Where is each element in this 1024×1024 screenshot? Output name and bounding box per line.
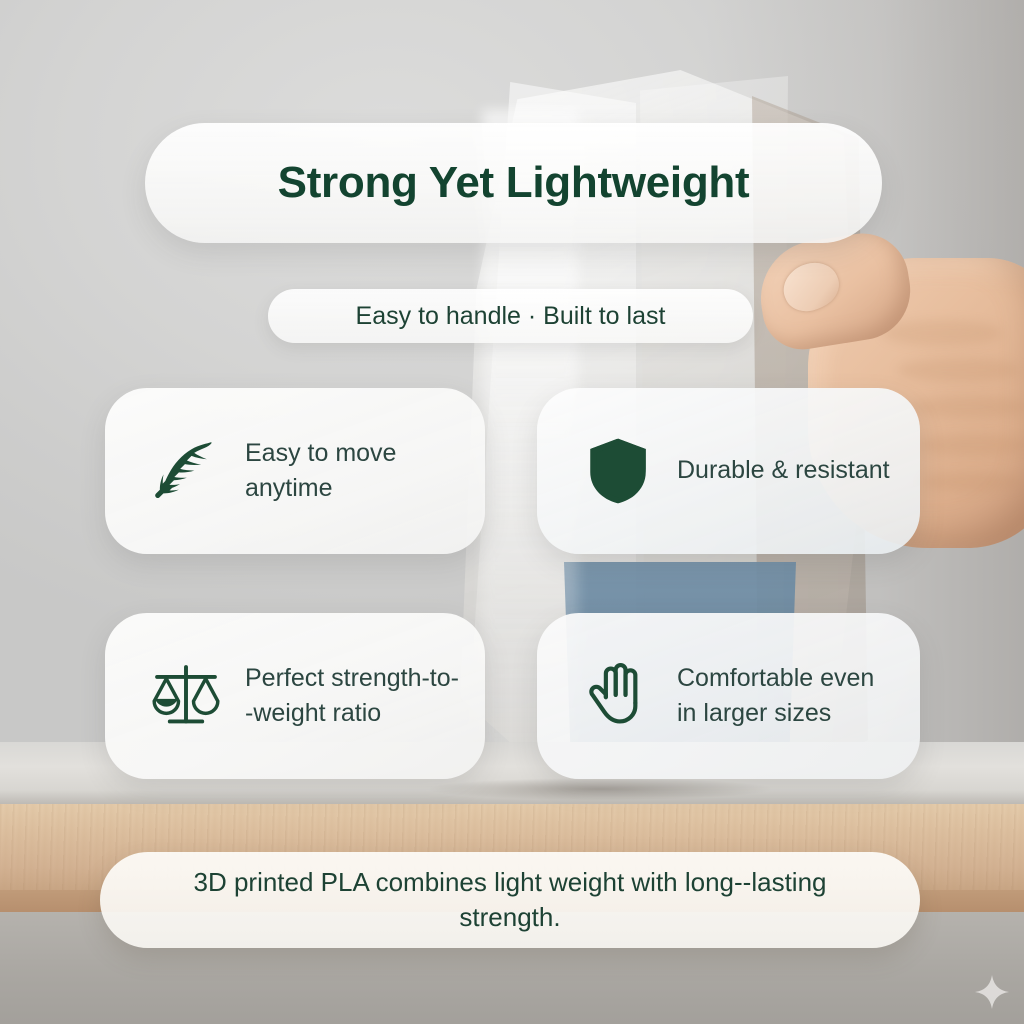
scales-icon	[149, 659, 223, 733]
feature-label: Easy to move anytime	[245, 436, 459, 507]
feature-card-strength-to-weight[interactable]: Perfect strength-to--weight ratio	[105, 613, 485, 779]
feature-card-comfortable[interactable]: Comfortable even in larger sizes	[537, 613, 920, 779]
feature-card-easy-to-move[interactable]: Easy to move anytime	[105, 388, 485, 554]
footer-text: 3D printed PLA combines light weight wit…	[140, 865, 880, 936]
feature-card-durable[interactable]: Durable & resistant	[537, 388, 920, 554]
infographic-overlay: Strong Yet Lightweight Easy to handle · …	[0, 0, 1024, 1024]
feature-label: Durable & resistant	[677, 453, 890, 489]
shield-icon	[581, 434, 655, 508]
footer-pill: 3D printed PLA combines light weight wit…	[100, 852, 920, 948]
feather-icon	[149, 434, 223, 508]
sparkle-icon	[975, 975, 1009, 1009]
feature-label: Comfortable even in larger sizes	[677, 661, 894, 732]
feature-label: Perfect strength-to--weight ratio	[245, 661, 459, 732]
hand-icon	[581, 659, 655, 733]
